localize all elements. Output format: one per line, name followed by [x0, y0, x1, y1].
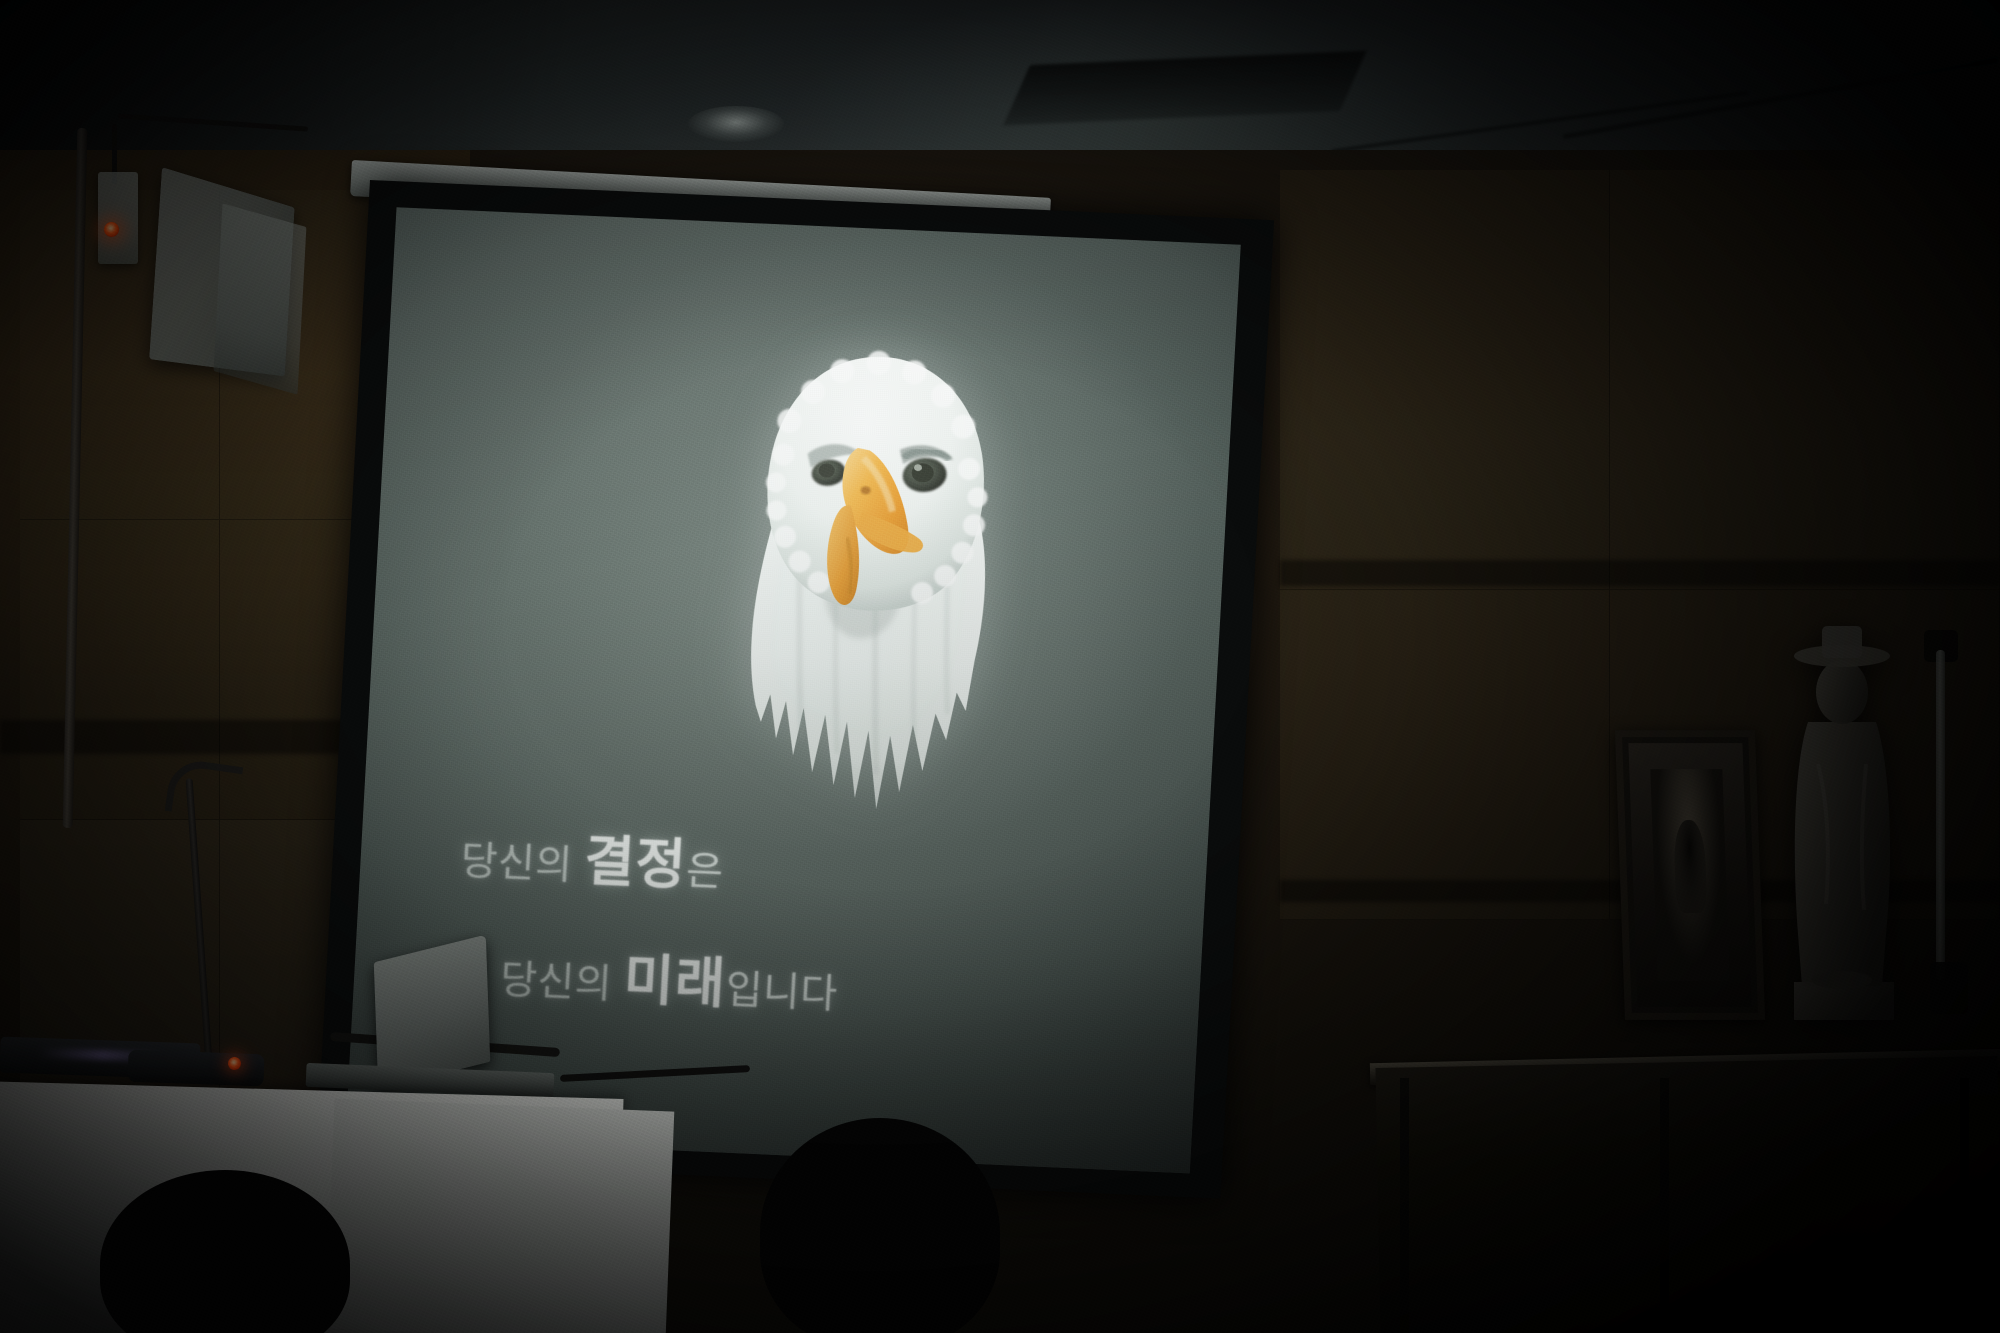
slide-text-block: 당신의 결정은 당신의 미래입니다: [431, 810, 1061, 1033]
stand-leg: [1400, 1078, 1409, 1333]
status-led-icon: [104, 222, 119, 237]
presenter-table-front: [326, 1099, 675, 1333]
line1-emphasis: 결정: [583, 830, 688, 895]
slide-text-line-2: 당신의 미래입니다: [499, 930, 1055, 1033]
audience-head: [760, 1118, 1000, 1333]
equipment-led-icon: [228, 1057, 241, 1070]
wall-panel: [1610, 170, 2000, 590]
wall-panel: [1280, 170, 1610, 590]
screenshot-root: 당신의 결정은 당신의 미래입니다: [0, 0, 2000, 1333]
line2-prefix: 당신의: [499, 958, 613, 1007]
stand-leg: [1660, 1078, 1669, 1333]
framed-portrait: [1615, 730, 1765, 1020]
display-stand: [1375, 1056, 2000, 1333]
frame-artwork: [1650, 769, 1730, 980]
wall-panel: [1280, 590, 1610, 920]
wall-band: [1280, 560, 2000, 586]
statue: [1778, 604, 1906, 1022]
pole-foot: [1930, 962, 1968, 1014]
floor-pole: [1936, 650, 1945, 980]
line2-emphasis: 미래: [622, 949, 727, 1014]
stand-leg: [1960, 1078, 1969, 1333]
line1-prefix: 당신의: [460, 839, 574, 888]
frame-mat: [1628, 743, 1751, 1007]
sensor-box: [98, 172, 138, 264]
line2-suffix: 입니다: [724, 968, 838, 1017]
speaker-face: [214, 203, 307, 394]
bald-eagle-head-image: [692, 332, 1050, 856]
microphone-base: [127, 1050, 264, 1087]
line1-suffix: 은: [685, 849, 725, 895]
portrait-figure: [1673, 820, 1707, 913]
